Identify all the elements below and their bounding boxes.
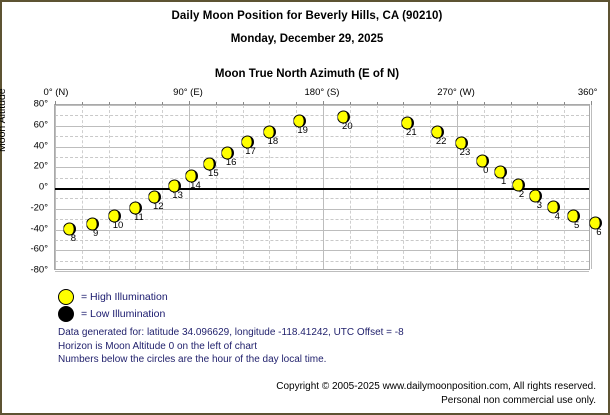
legend-label: = Low Illumination (81, 308, 165, 320)
y-axis-tick-label: -20° (10, 202, 48, 213)
x-axis-tick (457, 101, 458, 105)
x-axis-tick-label: 360° (578, 87, 598, 98)
x-axis-tick (591, 101, 592, 105)
x-axis-tick-minor (296, 102, 297, 105)
gridline-horizontal (55, 271, 589, 272)
x-axis-tick-minor (377, 102, 378, 105)
note-line: Horizon is Moon Altitude 0 on the left o… (58, 340, 404, 354)
high-illumination-icon (58, 289, 74, 305)
y-axis-tick-label: 20° (10, 161, 48, 172)
x-axis-tick-label: 180° (S) (305, 87, 340, 98)
gridline-vertical-minor (162, 105, 163, 269)
x-axis-tick (189, 101, 190, 105)
y-axis-tick-label: 80° (10, 99, 48, 110)
x-axis-tick-minor (350, 102, 351, 105)
moon-marker-hour-label: 18 (268, 136, 279, 147)
legend: = High Illumination= Low Illumination (58, 288, 168, 322)
moon-marker-hour-label: 21 (406, 127, 417, 138)
x-axis-tick-minor (216, 102, 217, 105)
moon-position-chart-page: Daily Moon Position for Beverly Hills, C… (0, 0, 610, 415)
x-axis-tick-minor (564, 102, 565, 105)
x-axis-tick-minor (511, 102, 512, 105)
gridline-vertical-minor (243, 105, 244, 269)
y-axis-tick-label: 60° (10, 119, 48, 130)
low-illumination-icon (58, 306, 74, 322)
legend-label: = High Illumination (81, 291, 168, 303)
moon-marker-hour-label: 19 (297, 125, 308, 136)
moon-marker-hour-label: 14 (190, 180, 201, 191)
moon-marker-hour-label: 6 (596, 227, 601, 238)
gridline-vertical-minor (82, 105, 83, 269)
gridline-vertical (55, 105, 56, 269)
gridline-vertical-minor (403, 105, 404, 269)
horizon-zero-line (55, 188, 589, 190)
x-axis-tick-minor (82, 102, 83, 105)
x-axis-tick-minor (403, 102, 404, 105)
moon-marker-hour-label: 23 (460, 147, 471, 158)
moon-marker-hour-label: 3 (537, 200, 542, 211)
y-axis-tick-label: 0° (10, 182, 48, 193)
plot-area (54, 104, 590, 270)
moon-marker-hour-label: 11 (134, 212, 144, 223)
moon-marker-hour-label: 5 (574, 220, 579, 231)
gridline-vertical (457, 105, 458, 269)
x-axis-tick-label: 0° (N) (44, 87, 69, 98)
y-axis-tick-label: -80° (10, 265, 48, 276)
y-axis-title: Moon Altitude (0, 88, 8, 152)
notes-block: Data generated for: latitude 34.096629, … (58, 326, 404, 367)
gridline-vertical-minor (537, 105, 538, 269)
y-axis-tick-label: -60° (10, 244, 48, 255)
gridline-vertical-minor (484, 105, 485, 269)
y-axis-tick-label: 40° (10, 140, 48, 151)
x-axis-tick-minor (269, 102, 270, 105)
moon-marker-hour-label: 17 (245, 146, 256, 157)
legend-high-illumination: = High Illumination (58, 288, 168, 305)
x-axis-tick-minor (537, 102, 538, 105)
x-axis-tick-minor (162, 102, 163, 105)
moon-marker-hour-label: 15 (208, 168, 219, 179)
x-axis-tick-minor (109, 102, 110, 105)
moon-marker-hour-label: 4 (555, 211, 560, 222)
chart-axis-heading: Moon True North Azimuth (E of N) (2, 68, 610, 80)
gridline-vertical-minor (377, 105, 378, 269)
page-subtitle-date: Monday, December 29, 2025 (2, 33, 610, 45)
moon-marker-hour-label: 12 (153, 201, 164, 212)
copyright-block: Copyright © 2005-2025 www.dailymoonposit… (276, 380, 596, 407)
note-line: Numbers below the circles are the hour o… (58, 353, 404, 367)
copyright-line: Copyright © 2005-2025 www.dailymoonposit… (276, 380, 596, 394)
x-axis-tick-minor (484, 102, 485, 105)
page-title: Daily Moon Position for Beverly Hills, C… (2, 10, 610, 22)
x-axis-tick (323, 101, 324, 105)
moon-marker-hour-label: 0 (483, 165, 488, 176)
gridline-vertical (591, 105, 592, 269)
y-axis-tick-label: -40° (10, 223, 48, 234)
x-axis-tick-label: 90° (E) (173, 87, 203, 98)
moon-marker-hour-label: 22 (436, 136, 447, 147)
moon-marker-hour-label: 1 (501, 176, 506, 187)
moon-marker-hour-label: 20 (342, 121, 353, 132)
x-axis-tick-minor (430, 102, 431, 105)
gridline-vertical-minor (109, 105, 110, 269)
note-line: Data generated for: latitude 34.096629, … (58, 326, 404, 340)
x-axis-tick (55, 101, 56, 105)
moon-marker-hour-label: 13 (172, 190, 183, 201)
moon-marker-hour-label: 16 (226, 157, 237, 168)
moon-marker-hour-label: 2 (519, 189, 524, 200)
x-axis-tick-label: 270° (W) (437, 87, 475, 98)
gridline-vertical-minor (564, 105, 565, 269)
gridline-vertical-minor (216, 105, 217, 269)
gridline-vertical-minor (135, 105, 136, 269)
moon-marker-hour-label: 8 (71, 233, 76, 244)
copyright-line: Personal non commercial use only. (276, 394, 596, 408)
x-axis-tick-minor (135, 102, 136, 105)
moon-marker-hour-label: 10 (113, 220, 124, 231)
x-axis-tick-minor (243, 102, 244, 105)
gridline-vertical (323, 105, 324, 269)
moon-marker-hour-label: 9 (93, 228, 98, 239)
legend-low-illumination: = Low Illumination (58, 305, 168, 322)
